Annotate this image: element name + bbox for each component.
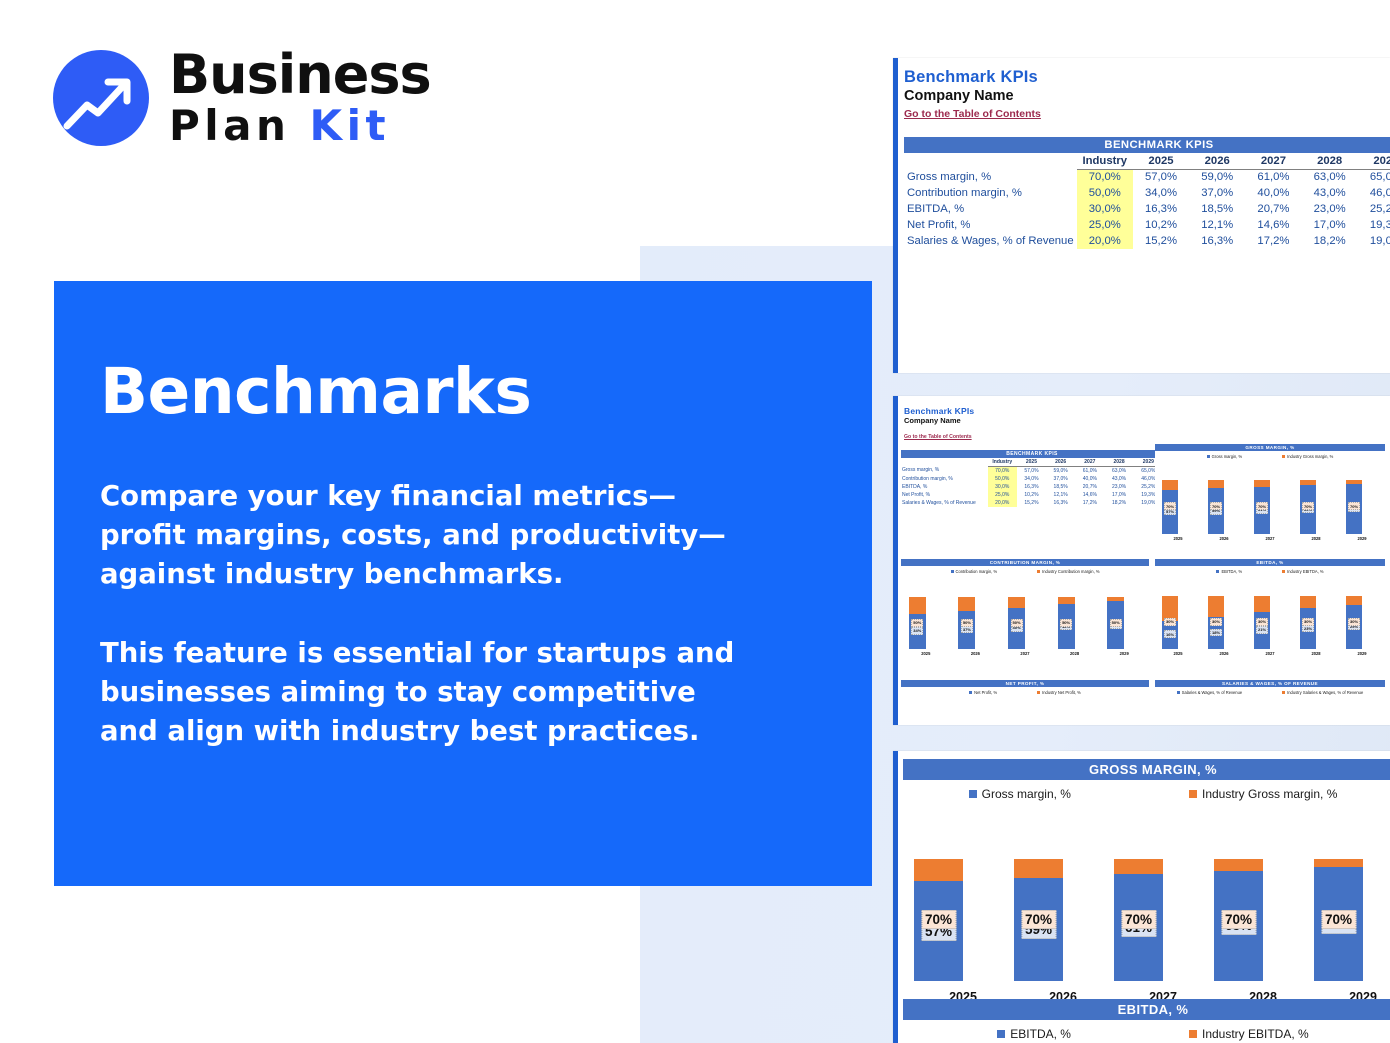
chart-plot-area: 34%50%202537%50%202640%50%202743%50%2028… bbox=[901, 587, 1149, 649]
legend-item[interactable]: Industry Net Profit, % bbox=[1037, 690, 1081, 695]
x-axis-category-label: 2029 bbox=[1339, 536, 1385, 541]
value-cell[interactable]: 16,3% bbox=[1046, 499, 1075, 507]
x-axis-category-label: 2025 bbox=[901, 651, 951, 656]
table-row[interactable]: Net Profit, %25,0%10,2%12,1%14,6%17,0%19… bbox=[901, 491, 1163, 499]
legend-item[interactable]: Industry EBITDA, % bbox=[1189, 1027, 1309, 1041]
brand-logo[interactable]: Business Plan Kit bbox=[53, 48, 431, 147]
legend-label: EBITDA, % bbox=[1010, 1027, 1071, 1041]
chart-salaries-wages-of-revenue: SALARIES & WAGES, % OF REVENUESalaries &… bbox=[1155, 680, 1385, 702]
chart-title: EBITDA, % bbox=[1155, 559, 1385, 566]
bar-data-label: 70% bbox=[1210, 502, 1222, 510]
column-header-industry: Industry bbox=[988, 458, 1017, 466]
industry-benchmark-cell[interactable]: 70,0% bbox=[988, 466, 1017, 474]
legend-label: Salaries & Wages, % of Revenue bbox=[1182, 690, 1242, 695]
chart-gross-margin: GROSS MARGIN, %Gross margin, %Industry G… bbox=[903, 759, 1390, 991]
hero-paragraph-2: This feature is essential for startups a… bbox=[100, 634, 740, 751]
legend-swatch-icon bbox=[1189, 1030, 1197, 1038]
industry-benchmark-cell[interactable]: 30,0% bbox=[1077, 201, 1133, 217]
table-band-row: BENCHMARK KPIS bbox=[904, 137, 1390, 153]
legend-item[interactable]: Industry Salaries & Wages, % of Revenue bbox=[1282, 690, 1363, 695]
row-label: Net Profit, % bbox=[904, 217, 1077, 233]
x-axis-category-label: 2025 bbox=[1155, 651, 1201, 656]
column-header-2026: 2026 bbox=[1046, 458, 1075, 466]
value-cell[interactable]: 12,1% bbox=[1046, 491, 1075, 499]
chart-legend: Gross margin, %Industry Gross margin, % bbox=[1155, 454, 1385, 459]
legend-item[interactable]: Gross margin, % bbox=[969, 787, 1071, 801]
x-axis-category-label: 2028 bbox=[1293, 536, 1339, 541]
value-cell[interactable]: 63,0% bbox=[1104, 466, 1133, 474]
bar-data-label: 70% bbox=[1302, 502, 1314, 510]
value-cell[interactable]: 16,3% bbox=[1133, 201, 1189, 217]
legend-label: Gross margin, % bbox=[1212, 454, 1242, 459]
industry-benchmark-cell[interactable]: 50,0% bbox=[988, 475, 1017, 483]
sheet-company: Company Name bbox=[904, 416, 1390, 425]
value-cell[interactable]: 43,0% bbox=[1104, 475, 1133, 483]
sheet-title: Benchmark KPIs bbox=[904, 406, 1390, 416]
industry-benchmark-cell[interactable]: 20,0% bbox=[988, 499, 1017, 507]
table-row[interactable]: EBITDA, %30,0%16,3%18,5%20,7%23,0%25,2% bbox=[904, 201, 1390, 217]
legend-label: Industry Gross margin, % bbox=[1202, 787, 1337, 801]
row-label: Gross margin, % bbox=[901, 466, 988, 474]
value-cell[interactable]: 17,0% bbox=[1104, 491, 1133, 499]
bar-data-label: 70% bbox=[921, 910, 956, 929]
value-cell[interactable]: 40,0% bbox=[1075, 475, 1104, 483]
x-axis-category-label: 2029 bbox=[1099, 651, 1149, 656]
value-cell[interactable]: 34,0% bbox=[1017, 475, 1046, 483]
legend-item[interactable]: Gross margin, % bbox=[1207, 454, 1242, 459]
table-of-contents-link[interactable]: Go to the Table of Contents bbox=[904, 108, 1041, 120]
chart-legend: Contribution margin, %Industry Contribut… bbox=[901, 569, 1149, 574]
value-cell[interactable]: 46,0% bbox=[1358, 185, 1390, 201]
row-label: Contribution margin, % bbox=[904, 185, 1077, 201]
legend-item[interactable]: Net Profit, % bbox=[969, 690, 997, 695]
legend-swatch-icon bbox=[1177, 691, 1180, 694]
chart-plot-area: 57%70%202559%70%202661%70%202763%70%2028… bbox=[903, 841, 1390, 981]
value-cell[interactable]: 10,2% bbox=[1017, 491, 1046, 499]
chart-legend: Gross margin, %Industry Gross margin, % bbox=[903, 787, 1390, 801]
industry-benchmark-cell[interactable]: 25,0% bbox=[1077, 217, 1133, 233]
sheet-header: Benchmark KPIs Company Name Go to the Ta… bbox=[893, 396, 1390, 443]
brand-kit-word: Kit bbox=[310, 101, 391, 150]
bar-data-label: 30% bbox=[1164, 618, 1176, 626]
legend-item[interactable]: Industry Gross margin, % bbox=[1282, 454, 1333, 459]
column-header-2025: 2025 bbox=[1017, 458, 1046, 466]
row-selection-rail bbox=[893, 58, 898, 373]
industry-benchmark-cell[interactable]: 70,0% bbox=[1077, 169, 1133, 185]
legend-label: Industry Net Profit, % bbox=[1042, 690, 1081, 695]
table-of-contents-link[interactable]: Go to the Table of Contents bbox=[904, 434, 972, 440]
bar-data-label: 30% bbox=[1302, 618, 1314, 626]
x-axis-category-label: 2028 bbox=[1050, 651, 1100, 656]
table-row[interactable]: Contribution margin, %50,0%34,0%37,0%40,… bbox=[904, 185, 1390, 201]
column-header-metric bbox=[901, 458, 988, 466]
x-axis-category-label: 2026 bbox=[1201, 536, 1247, 541]
bar-data-label: 16% bbox=[1164, 630, 1176, 638]
sheet-company: Company Name bbox=[904, 88, 1390, 104]
legend-swatch-icon bbox=[1216, 570, 1219, 573]
bar-data-label: 50% bbox=[911, 619, 923, 627]
x-axis-category-label: 2026 bbox=[1201, 651, 1247, 656]
legend-label: Industry EBITDA, % bbox=[1287, 569, 1323, 574]
legend-swatch-icon bbox=[1189, 790, 1197, 798]
table-band-title: BENCHMARK KPIS bbox=[901, 450, 1163, 458]
value-cell[interactable]: 14,6% bbox=[1245, 217, 1301, 233]
value-cell[interactable]: 15,2% bbox=[1133, 233, 1189, 249]
value-cell[interactable]: 20,7% bbox=[1075, 483, 1104, 491]
legend-label: Industry Gross margin, % bbox=[1287, 454, 1333, 459]
benchmark-kpi-table[interactable]: BENCHMARK KPISIndustry202520262027202820… bbox=[901, 450, 1163, 507]
x-axis-category-label: 2029 bbox=[1339, 651, 1385, 656]
legend-item[interactable]: Salaries & Wages, % of Revenue bbox=[1177, 690, 1242, 695]
x-axis-category-label: 2027 bbox=[1247, 651, 1293, 656]
column-header-2027: 2027 bbox=[1245, 153, 1301, 169]
value-cell[interactable]: 23,0% bbox=[1104, 483, 1133, 491]
bar-data-label: 70% bbox=[1348, 502, 1360, 510]
column-header-2026: 2026 bbox=[1189, 153, 1245, 169]
legend-label: Industry EBITDA, % bbox=[1202, 1027, 1309, 1041]
value-cell[interactable]: 57,0% bbox=[1133, 169, 1189, 185]
chart-title: NET PROFIT, % bbox=[901, 680, 1149, 687]
industry-benchmark-cell[interactable]: 50,0% bbox=[1077, 185, 1133, 201]
industry-benchmark-cell[interactable]: 30,0% bbox=[988, 483, 1017, 491]
legend-item[interactable]: Industry Gross margin, % bbox=[1189, 787, 1337, 801]
column-header-2029: 2029 bbox=[1358, 153, 1390, 169]
row-selection-rail bbox=[893, 751, 898, 1043]
value-cell[interactable]: 25,2% bbox=[1358, 201, 1390, 217]
value-cell[interactable]: 16,3% bbox=[1017, 483, 1046, 491]
value-cell[interactable]: 14,6% bbox=[1075, 491, 1104, 499]
bar-data-label: 37% bbox=[961, 625, 973, 633]
row-label: Contribution margin, % bbox=[901, 475, 988, 483]
bar-data-label: 70% bbox=[1256, 502, 1268, 510]
value-cell[interactable]: 63,0% bbox=[1302, 169, 1358, 185]
bar-data-label: 70% bbox=[1164, 502, 1176, 510]
chart-title: GROSS MARGIN, % bbox=[903, 759, 1390, 780]
legend-swatch-icon bbox=[1282, 691, 1285, 694]
chart-plot-area: 16%30%202518%30%202621%30%202723%30%2028… bbox=[1155, 587, 1385, 649]
value-cell[interactable]: 37,0% bbox=[1189, 185, 1245, 201]
column-header-2028: 2028 bbox=[1302, 153, 1358, 169]
value-cell[interactable]: 12,1% bbox=[1189, 217, 1245, 233]
value-cell[interactable]: 37,0% bbox=[1046, 475, 1075, 483]
value-cell[interactable]: 16,3% bbox=[1189, 233, 1245, 249]
chart-title: EBITDA, % bbox=[903, 999, 1390, 1020]
value-cell[interactable]: 23,0% bbox=[1302, 201, 1358, 217]
x-axis-category-label: 2025 bbox=[1155, 536, 1201, 541]
legend-label: Net Profit, % bbox=[974, 690, 997, 695]
table-header-row: Industry20252026202720282029 bbox=[904, 153, 1390, 169]
row-selection-rail bbox=[893, 396, 898, 725]
row-label: Salaries & Wages, % of Revenue bbox=[901, 499, 988, 507]
bar-data-label: 70% bbox=[1021, 910, 1056, 929]
table-band-row: BENCHMARK KPIS bbox=[901, 450, 1163, 458]
bar-data-label: 18% bbox=[1210, 629, 1222, 637]
value-cell[interactable]: 59,0% bbox=[1189, 169, 1245, 185]
chart-title: SALARIES & WAGES, % OF REVENUE bbox=[1155, 680, 1385, 687]
value-cell[interactable]: 57,0% bbox=[1017, 466, 1046, 474]
bar-data-label: 50% bbox=[1060, 619, 1072, 627]
chart-contribution-margin: CONTRIBUTION MARGIN, %Contribution margi… bbox=[901, 559, 1149, 679]
industry-benchmark-cell[interactable]: 25,0% bbox=[988, 491, 1017, 499]
value-cell[interactable]: 34,0% bbox=[1133, 185, 1189, 201]
sheet-title: Benchmark KPIs bbox=[904, 68, 1390, 87]
x-axis-category-label: 2027 bbox=[1000, 651, 1050, 656]
bar-data-label: 21% bbox=[1256, 626, 1268, 634]
legend-swatch-icon bbox=[951, 570, 954, 573]
x-axis-category-label: 2027 bbox=[1247, 536, 1293, 541]
chart-legend: Net Profit, %Industry Net Profit, % bbox=[901, 690, 1149, 695]
table-row[interactable]: Salaries & Wages, % of Revenue20,0%15,2%… bbox=[904, 233, 1390, 249]
column-header-industry: Industry bbox=[1077, 153, 1133, 169]
hero-panel: Benchmarks Compare your key financial me… bbox=[54, 281, 872, 886]
spreadsheet-preview-middle[interactable]: Benchmark KPIs Company Name Go to the Ta… bbox=[893, 396, 1390, 725]
column-header-metric bbox=[904, 153, 1077, 169]
industry-benchmark-cell[interactable]: 20,0% bbox=[1077, 233, 1133, 249]
chart-gross-margin: GROSS MARGIN, %Gross margin, %Industry G… bbox=[1155, 444, 1385, 562]
row-label: Gross margin, % bbox=[904, 169, 1077, 185]
value-cell[interactable]: 17,2% bbox=[1075, 499, 1104, 507]
chart-legend: Salaries & Wages, % of RevenueIndustry S… bbox=[1155, 690, 1385, 695]
brand-name-line1: Business bbox=[169, 48, 431, 102]
spreadsheet-preview-top[interactable]: Benchmark KPIs Company Name Go to the Ta… bbox=[893, 58, 1390, 373]
bar-data-label: 30% bbox=[1348, 618, 1360, 626]
legend-label: Industry Salaries & Wages, % of Revenue bbox=[1287, 690, 1363, 695]
legend-swatch-icon bbox=[969, 790, 977, 798]
table-row[interactable]: Contribution margin, %50,0%34,0%37,0%40,… bbox=[901, 475, 1163, 483]
legend-label: Contribution margin, % bbox=[956, 569, 998, 574]
legend-swatch-icon bbox=[1037, 570, 1040, 573]
row-label: Net Profit, % bbox=[901, 491, 988, 499]
value-cell[interactable]: 61,0% bbox=[1245, 169, 1301, 185]
bar-data-label: 70% bbox=[1121, 910, 1156, 929]
growth-arrow-icon bbox=[53, 50, 149, 146]
bar-data-label: 30% bbox=[1210, 618, 1222, 626]
legend-swatch-icon bbox=[1282, 570, 1285, 573]
table-row[interactable]: Gross margin, %70,0%57,0%59,0%61,0%63,0%… bbox=[901, 466, 1163, 474]
value-cell[interactable]: 20,7% bbox=[1245, 201, 1301, 217]
row-label: EBITDA, % bbox=[901, 483, 988, 491]
legend-item[interactable]: EBITDA, % bbox=[997, 1027, 1071, 1041]
value-cell[interactable]: 18,5% bbox=[1046, 483, 1075, 491]
value-cell[interactable]: 40,0% bbox=[1245, 185, 1301, 201]
table-row[interactable]: Net Profit, %25,0%10,2%12,1%14,6%17,0%19… bbox=[904, 217, 1390, 233]
row-label: EBITDA, % bbox=[904, 201, 1077, 217]
x-axis-category-label: 2028 bbox=[1293, 651, 1339, 656]
kpi-table-container-large: BENCHMARK KPISIndustry202520262027202820… bbox=[893, 137, 1390, 249]
column-header-2027: 2027 bbox=[1075, 458, 1104, 466]
legend-swatch-icon bbox=[1037, 691, 1040, 694]
table-header-row: Industry20252026202720282029 bbox=[901, 458, 1163, 466]
bar-data-label: 34% bbox=[911, 627, 923, 635]
chart-title: GROSS MARGIN, % bbox=[1155, 444, 1385, 451]
value-cell[interactable]: 59,0% bbox=[1046, 466, 1075, 474]
value-cell[interactable]: 19,0% bbox=[1358, 233, 1390, 249]
value-cell[interactable]: 17,2% bbox=[1245, 233, 1301, 249]
value-cell[interactable]: 15,2% bbox=[1017, 499, 1046, 507]
bar-data-label: 70% bbox=[1221, 910, 1256, 929]
row-label: Salaries & Wages, % of Revenue bbox=[904, 233, 1077, 249]
slide-canvas: Business Plan Kit Benchmarks Compare you… bbox=[0, 0, 1390, 1043]
legend-swatch-icon bbox=[1207, 455, 1210, 458]
spreadsheet-preview-bottom[interactable]: GROSS MARGIN, %Gross margin, %Industry G… bbox=[893, 751, 1390, 1043]
chart-ebitda: EBITDA, %EBITDA, %Industry EBITDA, %16%3… bbox=[1155, 559, 1385, 679]
legend-item[interactable]: Industry Contribution margin, % bbox=[1037, 569, 1099, 574]
bar-data-label: 50% bbox=[961, 619, 973, 627]
legend-item[interactable]: Contribution margin, % bbox=[951, 569, 998, 574]
legend-label: Industry Contribution margin, % bbox=[1042, 569, 1099, 574]
chart-ebitda: EBITDA, %EBITDA, %Industry EBITDA, % bbox=[903, 999, 1390, 1043]
legend-label: EBITDA, % bbox=[1221, 569, 1242, 574]
value-cell[interactable]: 65,0% bbox=[1358, 169, 1390, 185]
sheet-header: Benchmark KPIs Company Name Go to the Ta… bbox=[893, 58, 1390, 122]
page-title: Benchmarks bbox=[100, 359, 872, 425]
table-row[interactable]: EBITDA, %30,0%16,3%18,5%20,7%23,0%25,2% bbox=[901, 483, 1163, 491]
bar-data-label: 50% bbox=[1110, 619, 1122, 627]
chart-legend: EBITDA, %Industry EBITDA, % bbox=[903, 1027, 1390, 1041]
chart-legend: EBITDA, %Industry EBITDA, % bbox=[1155, 569, 1385, 574]
chart-plot-area: 57%70%202559%70%202661%70%202763%70%2028… bbox=[1155, 472, 1385, 534]
value-cell[interactable]: 18,2% bbox=[1104, 499, 1133, 507]
value-cell[interactable]: 61,0% bbox=[1075, 466, 1104, 474]
hero-paragraph-1: Compare your key financial metrics—profi… bbox=[100, 477, 740, 594]
x-axis-category-label: 2026 bbox=[951, 651, 1001, 656]
legend-swatch-icon bbox=[969, 691, 972, 694]
brand-plan-word: Plan bbox=[169, 101, 290, 150]
value-cell[interactable]: 19,3% bbox=[1358, 217, 1390, 233]
value-cell[interactable]: 43,0% bbox=[1302, 185, 1358, 201]
bar-data-label: 70% bbox=[1321, 910, 1356, 929]
value-cell[interactable]: 18,2% bbox=[1302, 233, 1358, 249]
legend-item[interactable]: EBITDA, % bbox=[1216, 569, 1242, 574]
table-row[interactable]: Salaries & Wages, % of Revenue20,0%15,2%… bbox=[901, 499, 1163, 507]
benchmark-kpi-table[interactable]: BENCHMARK KPISIndustry202520262027202820… bbox=[904, 137, 1390, 249]
bar-data-label: 50% bbox=[1010, 619, 1022, 627]
brand-name-line2: Plan Kit bbox=[169, 105, 431, 147]
legend-label: Gross margin, % bbox=[982, 787, 1071, 801]
legend-swatch-icon bbox=[997, 1030, 1005, 1038]
legend-item[interactable]: Industry EBITDA, % bbox=[1282, 569, 1323, 574]
column-header-2025: 2025 bbox=[1133, 153, 1189, 169]
column-header-2028: 2028 bbox=[1104, 458, 1133, 466]
value-cell[interactable]: 18,5% bbox=[1189, 201, 1245, 217]
bar-data-label: 30% bbox=[1256, 618, 1268, 626]
table-row[interactable]: Gross margin, %70,0%57,0%59,0%61,0%63,0%… bbox=[904, 169, 1390, 185]
legend-swatch-icon bbox=[1282, 455, 1285, 458]
table-band-title: BENCHMARK KPIS bbox=[904, 137, 1390, 153]
chart-net-profit: NET PROFIT, %Net Profit, %Industry Net P… bbox=[901, 680, 1149, 702]
chart-title: CONTRIBUTION MARGIN, % bbox=[901, 559, 1149, 566]
value-cell[interactable]: 10,2% bbox=[1133, 217, 1189, 233]
value-cell[interactable]: 17,0% bbox=[1302, 217, 1358, 233]
